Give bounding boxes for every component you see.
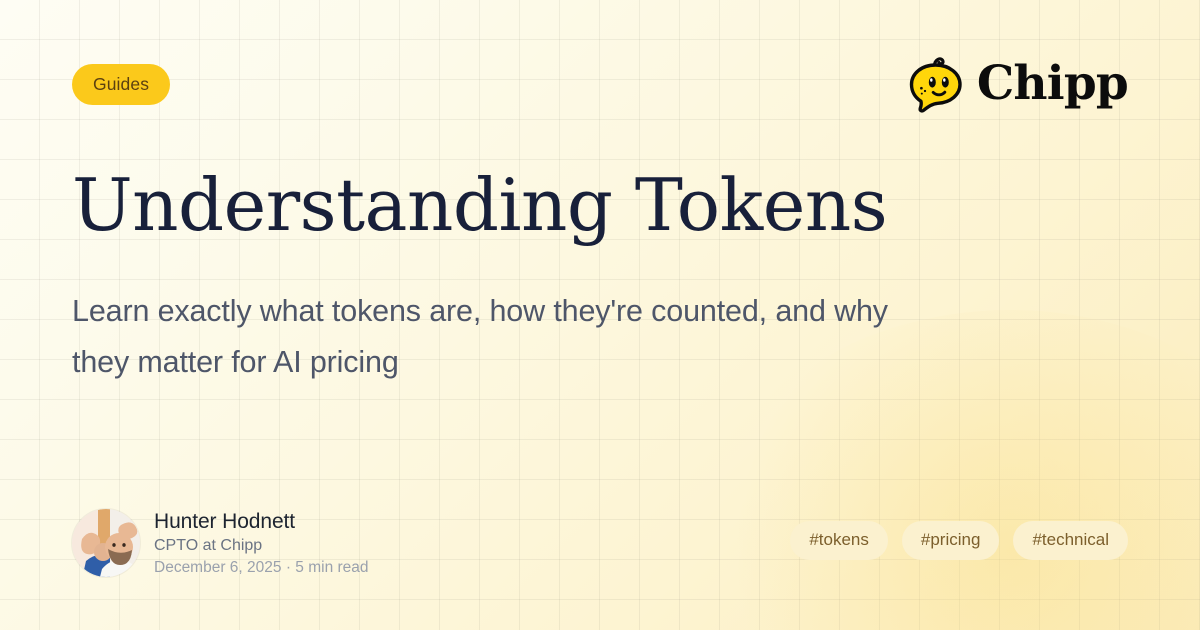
chipp-speech-bubble-mascot-icon bbox=[904, 54, 968, 114]
brand-logo[interactable]: Chipp bbox=[904, 54, 1128, 114]
brand-wordmark: Chipp bbox=[977, 60, 1128, 107]
footer-row: Hunter Hodnett CPTO at Chipp December 6,… bbox=[72, 509, 1128, 578]
category-badge[interactable]: Guides bbox=[72, 64, 170, 105]
author-date-readtime: December 6, 2025 · 5 min read bbox=[154, 558, 369, 578]
author-meta: Hunter Hodnett CPTO at Chipp December 6,… bbox=[154, 509, 369, 578]
tag-pill[interactable]: #tokens bbox=[790, 521, 888, 560]
page-subtitle: Learn exactly what tokens are, how they'… bbox=[72, 286, 942, 388]
author-block: Hunter Hodnett CPTO at Chipp December 6,… bbox=[72, 509, 369, 578]
header-row: Guides bbox=[72, 62, 1128, 106]
tag-pill[interactable]: #technical bbox=[1013, 521, 1128, 560]
page-title: Understanding Tokens bbox=[72, 168, 1072, 243]
tag-pill[interactable]: #pricing bbox=[902, 521, 1000, 560]
author-role: CPTO at Chipp bbox=[154, 536, 369, 557]
avatar bbox=[72, 509, 140, 577]
og-card: Guides bbox=[0, 0, 1200, 630]
tag-list: #tokens #pricing #technical bbox=[790, 521, 1128, 560]
author-name: Hunter Hodnett bbox=[154, 509, 369, 535]
